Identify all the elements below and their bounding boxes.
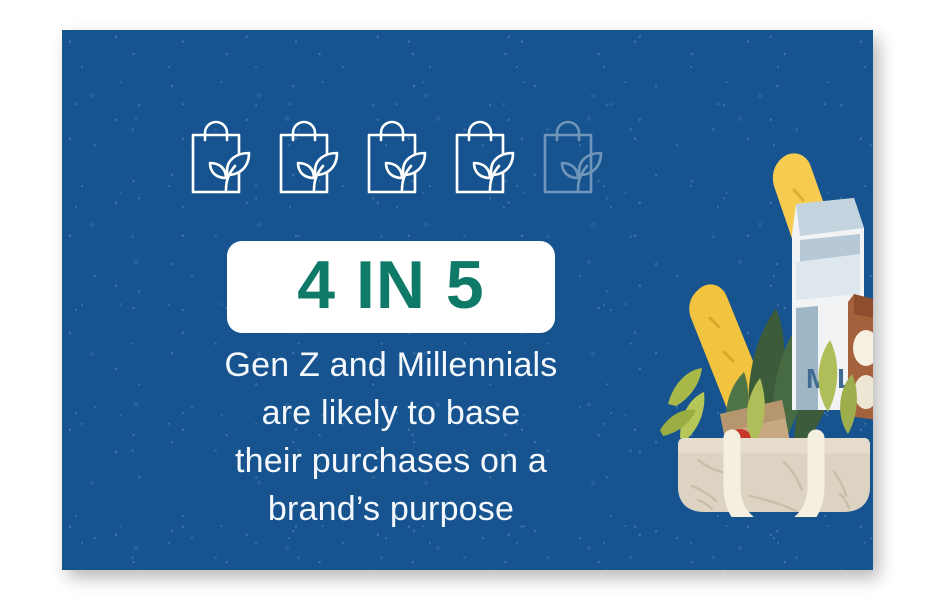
eco-shopping-bag-icon-3 xyxy=(366,116,430,198)
caption-line-1: Gen Z and Millennials xyxy=(158,341,624,389)
grocery-tote-artwork: MIL xyxy=(654,142,873,517)
herbs-sprig xyxy=(660,368,704,438)
eco-shopping-bag-icon-2 xyxy=(278,116,342,198)
grocery-tote-illustration: MIL xyxy=(654,142,873,517)
eco-bag-icon-row xyxy=(190,116,606,198)
infographic-card: 4 IN 5 Gen Z and Millennials are likely … xyxy=(62,30,873,570)
caption-line-4: brand’s purpose xyxy=(158,485,624,533)
caption-line-3: their purchases on a xyxy=(158,437,624,485)
stat-badge: 4 IN 5 xyxy=(227,241,555,333)
stat-badge-text: 4 IN 5 xyxy=(297,251,484,319)
eco-shopping-bag-icon-5-faded xyxy=(542,116,606,198)
eco-shopping-bag-icon-1 xyxy=(190,116,254,198)
caption-text: Gen Z and Millennials are likely to base… xyxy=(158,341,624,533)
eco-shopping-bag-icon-4 xyxy=(454,116,518,198)
tote-bag-body xyxy=(678,438,870,517)
page-background: 4 IN 5 Gen Z and Millennials are likely … xyxy=(0,0,936,600)
caption-line-2: are likely to base xyxy=(158,389,624,437)
